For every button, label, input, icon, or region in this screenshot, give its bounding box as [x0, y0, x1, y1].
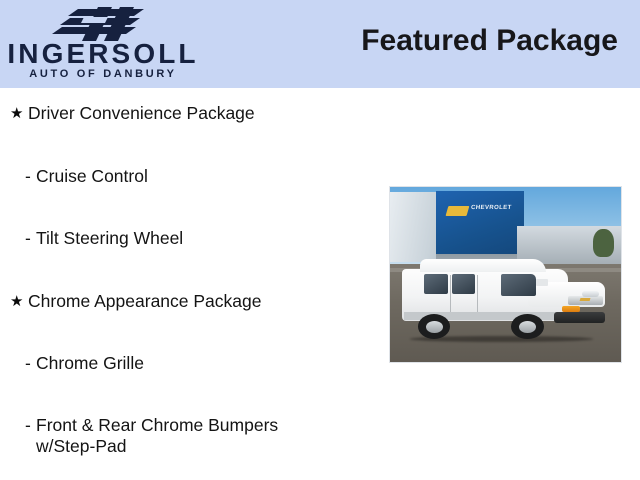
van-door-seam: [477, 275, 478, 315]
dash-bullet-icon: -: [25, 228, 36, 249]
list-item: - Front & Rear Chrome Bumpers w/Step-Pad: [25, 415, 278, 457]
star-bullet-icon: ★: [10, 291, 28, 312]
dash-bullet-icon: -: [25, 353, 36, 374]
list-item-label: Front & Rear Chrome Bumpers w/Step-Pad: [36, 415, 278, 457]
van-windshield: [501, 274, 536, 296]
list-item-label: Cruise Control: [36, 166, 148, 187]
list-item: - Tilt Steering Wheel: [25, 228, 183, 249]
van-mirror: [536, 279, 548, 286]
photo-tree: [593, 229, 614, 257]
van-headlight: [582, 291, 598, 297]
page-header: INGERSOLL AUTO OF DANBURY Featured Packa…: [0, 0, 640, 88]
van-rear-window: [424, 274, 448, 294]
list-item-label: Driver Convenience Package: [28, 103, 255, 124]
van-door-seam: [450, 275, 451, 315]
photo-dealership-sign: [436, 191, 524, 261]
list-item: ★ Chrome Appearance Package: [10, 291, 261, 312]
dealership-logo: INGERSOLL AUTO OF DANBURY: [0, 2, 210, 86]
van-rear-wheel: [418, 314, 451, 339]
van-front-bumper: [554, 312, 605, 322]
list-item-label: Tilt Steering Wheel: [36, 228, 183, 249]
star-bullet-icon: ★: [10, 103, 28, 124]
dash-bullet-icon: -: [25, 415, 36, 436]
van-roof: [420, 259, 546, 272]
dash-bullet-icon: -: [25, 166, 36, 187]
van-turn-signal: [562, 306, 580, 312]
brand-tagline: AUTO OF DANBURY: [0, 69, 206, 80]
list-item: - Chrome Grille: [25, 353, 144, 374]
list-item: - Cruise Control: [25, 166, 148, 187]
van-side-door-window: [452, 274, 474, 294]
list-item-label: Chrome Grille: [36, 353, 144, 374]
brand-wordmark: INGERSOLL: [0, 40, 206, 68]
list-item: ★ Driver Convenience Package: [10, 103, 255, 124]
dealership-sign-label: CHEVROLET: [471, 205, 512, 211]
page-title: Featured Package: [361, 24, 618, 58]
list-item-label: Chrome Appearance Package: [28, 291, 261, 312]
chevrolet-express-cargo-van-photo: CHEVROLET: [389, 186, 622, 363]
chevrolet-bowtie-icon: [445, 206, 469, 216]
photo-van: [402, 257, 605, 341]
chevrolet-bowtie-icon: [580, 298, 591, 301]
van-front-wheel: [511, 314, 544, 339]
